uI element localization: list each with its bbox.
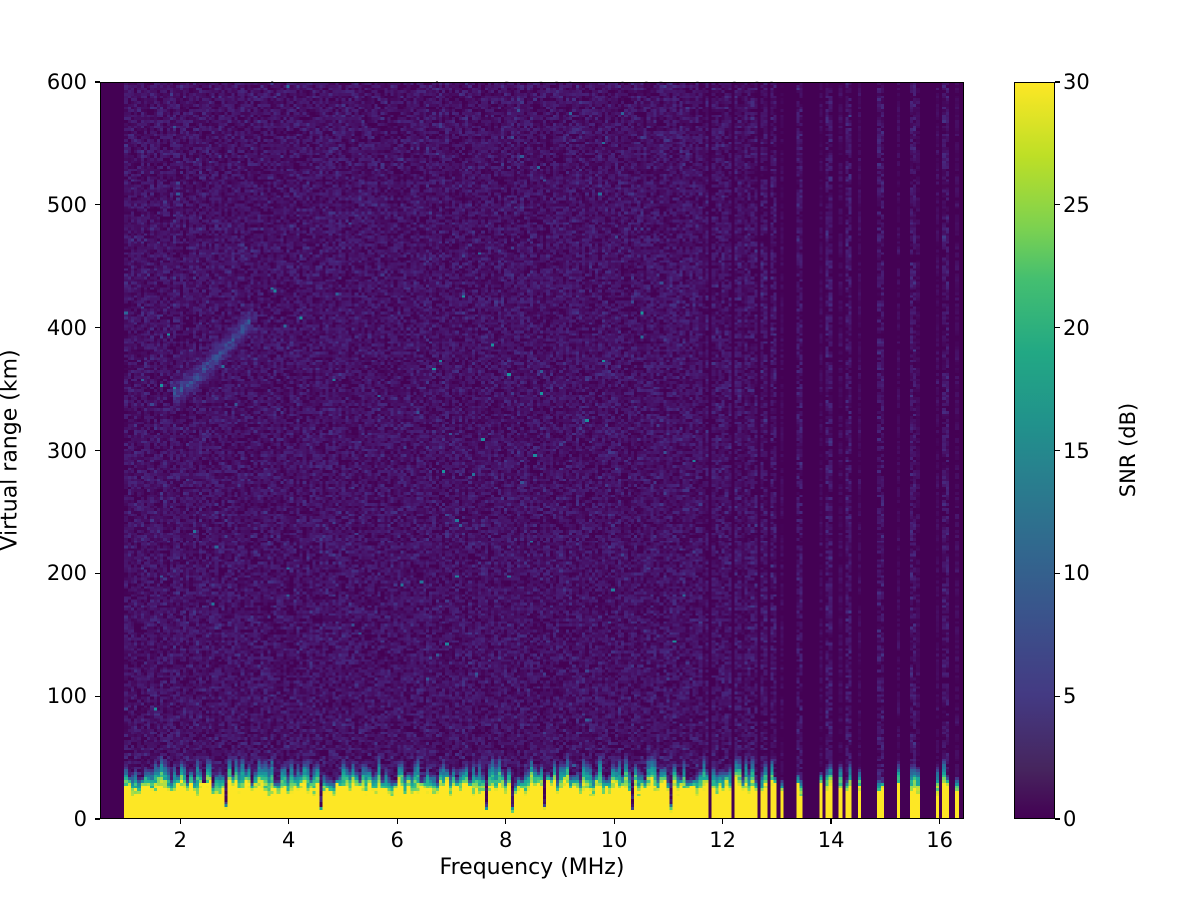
colorbar-ticklabel-30: 30 <box>1063 70 1090 94</box>
ionogram-heatmap-canvas[interactable] <box>101 83 963 818</box>
x-tick-12 <box>722 819 723 824</box>
y-axis-label: Virtual range (km) <box>0 349 23 550</box>
x-tick-14 <box>830 819 831 824</box>
x-tick-8 <box>505 819 506 824</box>
colorbar-tick-25 <box>1055 204 1060 205</box>
x-ticklabel-16: 16 <box>926 828 953 852</box>
y-ticklabel-200: 200 <box>47 561 87 585</box>
y-tick-300 <box>95 450 100 451</box>
x-ticklabel-6: 6 <box>391 828 404 852</box>
colorbar-ticklabel-25: 25 <box>1063 193 1090 217</box>
x-tick-2 <box>180 819 181 824</box>
x-ticklabel-4: 4 <box>282 828 295 852</box>
x-ticklabel-10: 10 <box>601 828 628 852</box>
x-ticklabel-8: 8 <box>499 828 512 852</box>
colorbar-ticklabel-20: 20 <box>1063 316 1090 340</box>
y-ticklabel-600: 600 <box>47 70 87 94</box>
colorbar[interactable] <box>1014 82 1055 819</box>
x-tick-4 <box>288 819 289 824</box>
colorbar-ticklabel-10: 10 <box>1063 561 1090 585</box>
y-tick-100 <box>95 696 100 697</box>
x-ticklabel-12: 12 <box>709 828 736 852</box>
colorbar-tick-30 <box>1055 81 1060 82</box>
colorbar-tick-20 <box>1055 327 1060 328</box>
y-tick-500 <box>95 204 100 205</box>
y-tick-400 <box>95 327 100 328</box>
y-ticklabel-300: 300 <box>47 439 87 463</box>
colorbar-tick-15 <box>1055 450 1060 451</box>
colorbar-gradient <box>1014 82 1055 819</box>
colorbar-tick-0 <box>1055 818 1060 819</box>
colorbar-tick-10 <box>1055 573 1060 574</box>
colorbar-label: SNR (dB) <box>1116 403 1140 497</box>
y-ticklabel-400: 400 <box>47 316 87 340</box>
ionogram-figure: IRF Kiruna Ionosonde KI167 2025-12-08 19… <box>0 0 1200 900</box>
x-tick-16 <box>939 819 940 824</box>
colorbar-ticklabel-5: 5 <box>1063 684 1076 708</box>
y-tick-0 <box>95 818 100 819</box>
ionogram-plot-area[interactable] <box>100 82 964 819</box>
colorbar-ticklabel-0: 0 <box>1063 807 1076 831</box>
colorbar-tick-5 <box>1055 696 1060 697</box>
colorbar-ticklabel-15: 15 <box>1063 439 1090 463</box>
x-tick-6 <box>397 819 398 824</box>
y-tick-200 <box>95 573 100 574</box>
x-ticklabel-14: 14 <box>818 828 845 852</box>
y-ticklabel-0: 0 <box>74 807 87 831</box>
x-tick-10 <box>614 819 615 824</box>
x-ticklabel-2: 2 <box>174 828 187 852</box>
x-axis-label: Frequency (MHz) <box>100 855 964 880</box>
y-ticklabel-100: 100 <box>47 684 87 708</box>
y-ticklabel-500: 500 <box>47 193 87 217</box>
y-tick-600 <box>95 81 100 82</box>
